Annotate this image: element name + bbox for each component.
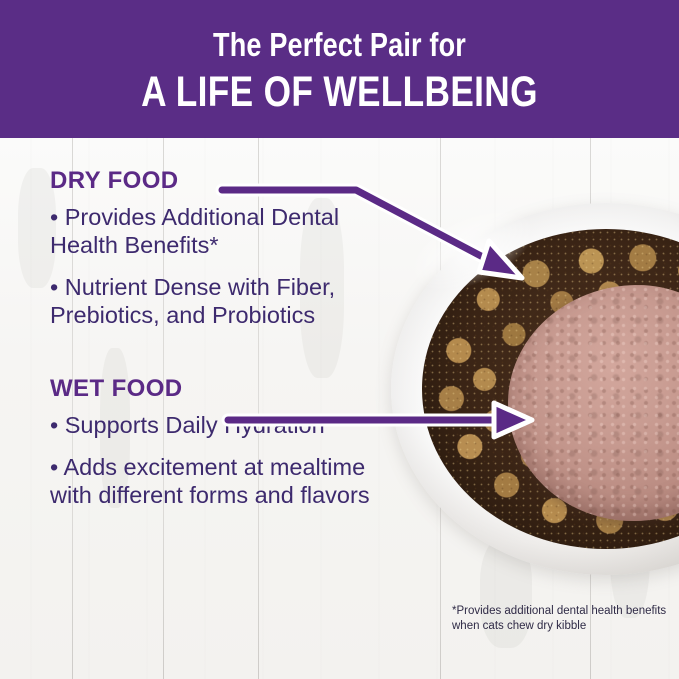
wet-food-bullet-2: • Adds excitement at mealtime with diffe… — [50, 453, 380, 509]
header-subtitle: The Perfect Pair for — [61, 26, 618, 64]
header-banner: The Perfect Pair for A LIFE OF WELLBEING — [0, 0, 679, 138]
dry-food-bullet-2: • Nutrient Dense with Fiber, Prebiotics,… — [50, 273, 380, 329]
benefits-copy: DRY FOOD • Provides Additional Dental He… — [50, 168, 380, 523]
wet-food-bullet-1: • Supports Daily Hydration — [50, 411, 380, 439]
section-spacer — [50, 343, 380, 376]
header-title: A LIFE OF WELLBEING — [61, 68, 618, 116]
wet-food-heading: WET FOOD — [50, 376, 380, 402]
promo-infographic: The Perfect Pair for A LIFE OF WELLBEING… — [0, 0, 679, 679]
pate-texture — [508, 285, 679, 521]
wet-pate — [508, 285, 679, 521]
dry-food-heading: DRY FOOD — [50, 168, 380, 194]
cat-food-bowl-image — [391, 203, 679, 583]
dry-food-bullet-1: • Provides Additional Dental Health Bene… — [50, 203, 380, 259]
footnote-text: *Provides additional dental health benef… — [452, 604, 672, 633]
